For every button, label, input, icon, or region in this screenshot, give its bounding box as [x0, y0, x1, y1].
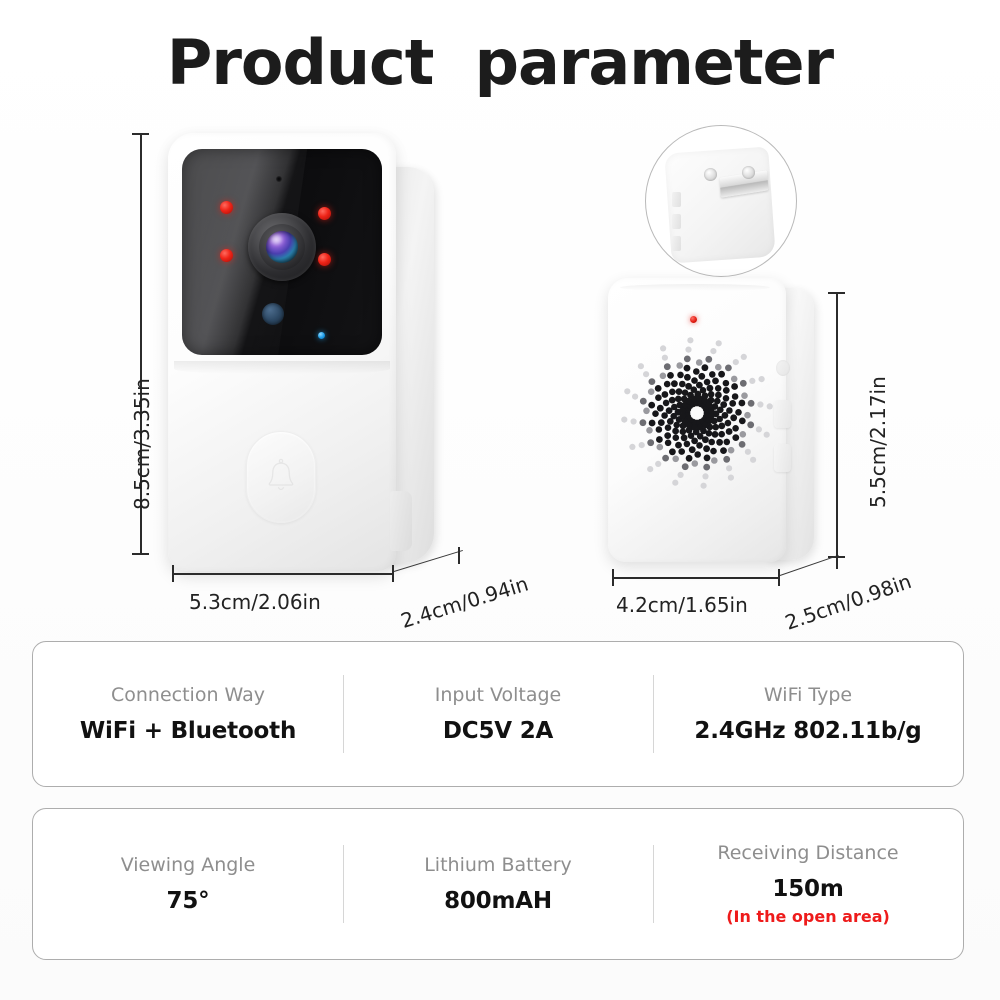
dimension-cap: [458, 547, 460, 564]
spec-value: WiFi + Bluetooth: [80, 718, 296, 744]
chime-side-button[interactable]: [774, 444, 791, 472]
doorbell-push-button[interactable]: [246, 431, 316, 523]
dimension-cap: [132, 553, 149, 555]
chime-width-label: 4.2cm/1.65in: [616, 593, 748, 617]
dimension-cap: [778, 569, 780, 586]
chime-receiver-render: [608, 278, 830, 574]
pir-sensor-icon: [262, 303, 284, 325]
microphone-icon: [276, 176, 282, 182]
doorbell-glass-panel: [182, 149, 382, 355]
spec-value: 2.4GHz 802.11b/g: [694, 718, 921, 744]
lens-iris: [266, 231, 298, 263]
chime-rear-shell: [664, 147, 775, 264]
chime-depth-label: 2.5cm/0.98in: [782, 569, 914, 635]
side-tab: [672, 236, 681, 251]
spec-card-secondary: Viewing Angle 75° Lithium Battery 800mAH…: [32, 808, 964, 960]
chime-side-knob[interactable]: [776, 360, 790, 376]
spec-row: Connection Way WiFi + Bluetooth Input Vo…: [33, 642, 963, 786]
screw-icon: [742, 166, 755, 179]
spec-cell-connection-way: Connection Way WiFi + Bluetooth: [33, 675, 343, 753]
chime-side-button[interactable]: [774, 400, 791, 428]
side-tab: [672, 192, 681, 207]
chime-width-line: [612, 577, 780, 579]
spec-value: DC5V 2A: [443, 718, 553, 744]
red-status-led-icon: [690, 316, 697, 323]
lens-ring: [259, 224, 305, 270]
ir-led-icon: [318, 207, 331, 220]
doorbell-depth-label: 2.4cm/0.94in: [398, 571, 531, 632]
doorbell-camera-render: [168, 133, 440, 575]
spec-note: (In the open area): [726, 907, 890, 926]
doorbell-width-line: [172, 573, 394, 575]
side-tab: [672, 214, 681, 229]
spec-cell-lithium-battery: Lithium Battery 800mAH: [343, 845, 653, 923]
chime-seam: [620, 284, 770, 291]
spec-value: 75°: [167, 888, 210, 914]
dimension-cap: [836, 552, 838, 569]
spec-label: Connection Way: [111, 684, 265, 706]
spec-cell-wifi-type: WiFi Type 2.4GHz 802.11b/g: [653, 675, 963, 753]
doorbell-body: [168, 133, 396, 571]
spec-label: Receiving Distance: [717, 842, 898, 864]
bell-icon: [264, 458, 298, 496]
product-illustration-area: 8.5cm/3.35in 5.3cm/2.06in 2.4cm/0.94in 5…: [0, 110, 1000, 630]
ir-led-icon: [220, 201, 233, 214]
spec-label: Viewing Angle: [121, 854, 256, 876]
blue-status-led-icon: [318, 332, 325, 339]
dimension-cap: [132, 133, 149, 135]
chime-height-line: [836, 292, 838, 558]
spec-cell-viewing-angle: Viewing Angle 75°: [33, 845, 343, 923]
speaker-grille-icon: [614, 330, 780, 496]
ir-led-icon: [318, 253, 331, 266]
dimension-cap: [612, 569, 614, 586]
ir-led-icon: [220, 249, 233, 262]
chime-body: [608, 278, 786, 562]
doorbell-mount-foot: [390, 491, 412, 551]
spec-card-primary: Connection Way WiFi + Bluetooth Input Vo…: [32, 641, 964, 787]
doorbell-height-label: 8.5cm/3.35in: [130, 378, 154, 510]
spec-value: 150m: [772, 876, 843, 902]
page-title: Product parameter: [0, 26, 1000, 99]
dimension-cap: [172, 565, 174, 582]
spec-label: Lithium Battery: [424, 854, 572, 876]
product-parameter-page: Product parameter: [0, 0, 1000, 1000]
spec-value: 800mAH: [444, 888, 552, 914]
doorbell-seam: [174, 361, 390, 374]
spec-label: Input Voltage: [435, 684, 562, 706]
camera-lens-icon: [248, 213, 316, 281]
spec-row: Viewing Angle 75° Lithium Battery 800mAH…: [33, 809, 963, 959]
dimension-cap: [828, 292, 845, 294]
chime-height-label: 5.5cm/2.17in: [866, 376, 890, 508]
dimension-cap: [392, 565, 394, 582]
plug-closeup-inset: [645, 125, 797, 277]
screw-icon: [704, 168, 717, 181]
spec-cell-input-voltage: Input Voltage DC5V 2A: [343, 675, 653, 753]
spec-cell-receiving-distance: Receiving Distance 150m (In the open are…: [653, 845, 963, 923]
spec-label: WiFi Type: [764, 684, 852, 706]
doorbell-width-label: 5.3cm/2.06in: [189, 590, 321, 614]
